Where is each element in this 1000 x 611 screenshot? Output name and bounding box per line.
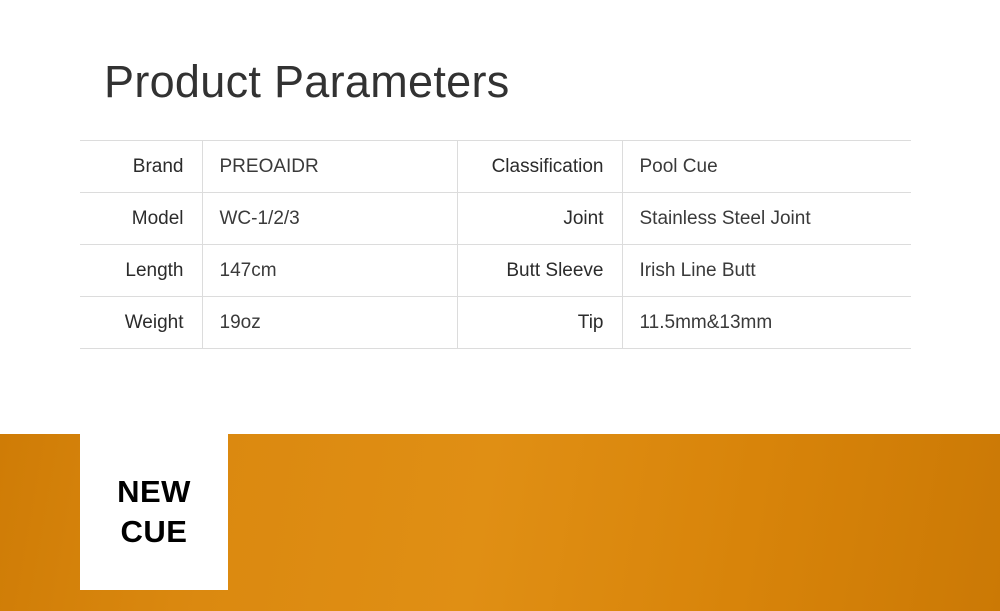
spec-value-joint: Stainless Steel Joint — [622, 193, 911, 245]
spec-value-classification: Pool Cue — [622, 141, 911, 193]
page-title: Product Parameters — [104, 57, 510, 107]
spec-label-model: Model — [80, 193, 202, 245]
product-spec-table: Brand PREOAIDR Classification Pool Cue M… — [80, 140, 911, 349]
spec-value-butt-sleeve: Irish Line Butt — [622, 245, 911, 297]
spec-label-length: Length — [80, 245, 202, 297]
spec-label-tip: Tip — [457, 297, 622, 349]
table-row: Length 147cm Butt Sleeve Irish Line Butt — [80, 245, 911, 297]
spec-label-weight: Weight — [80, 297, 202, 349]
spec-value-model: WC-1/2/3 — [202, 193, 457, 245]
spec-value-tip: 11.5mm&13mm — [622, 297, 911, 349]
spec-label-joint: Joint — [457, 193, 622, 245]
table-row: Weight 19oz Tip 11.5mm&13mm — [80, 297, 911, 349]
spec-label-classification: Classification — [457, 141, 622, 193]
new-cue-badge: NEW CUE — [80, 434, 228, 590]
spec-label-brand: Brand — [80, 141, 202, 193]
spec-label-butt-sleeve: Butt Sleeve — [457, 245, 622, 297]
table-row: Brand PREOAIDR Classification Pool Cue — [80, 141, 911, 193]
new-cue-badge-line2: CUE — [121, 512, 188, 552]
table-row: Model WC-1/2/3 Joint Stainless Steel Joi… — [80, 193, 911, 245]
product-parameters-page: Product Parameters Brand PREOAIDR Classi… — [0, 0, 1000, 611]
spec-value-brand: PREOAIDR — [202, 141, 457, 193]
new-cue-badge-line1: NEW — [117, 472, 191, 512]
spec-value-weight: 19oz — [202, 297, 457, 349]
spec-value-length: 147cm — [202, 245, 457, 297]
